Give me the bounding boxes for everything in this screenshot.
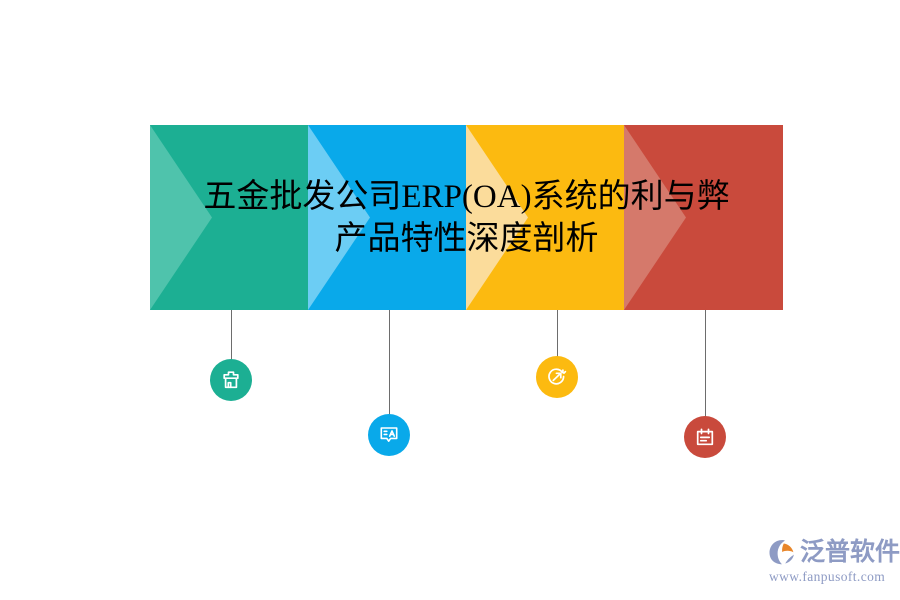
brand-url: www.fanpusoft.com — [768, 569, 894, 585]
segment-yellow-shape — [466, 125, 624, 310]
node-growth[interactable] — [536, 356, 578, 398]
banner-segment-teal — [150, 125, 308, 310]
connector-line-2 — [389, 310, 390, 423]
banner-segment-blue — [308, 125, 466, 310]
banner-segment-red — [624, 125, 783, 310]
banner — [150, 125, 783, 310]
segment-red-shape — [624, 125, 783, 310]
store-icon — [219, 368, 243, 392]
infographic-canvas: 五金批发公司ERP(OA)系统的利与弊 产品特性深度剖析 — [0, 0, 900, 600]
segment-blue-shape — [308, 125, 466, 310]
growth-icon — [545, 365, 569, 389]
banner-segment-yellow — [466, 125, 624, 310]
node-clipboard[interactable] — [684, 416, 726, 458]
connector-line-4 — [705, 310, 706, 425]
fanpu-logo-mark-icon — [768, 537, 798, 567]
translate-icon — [377, 423, 401, 447]
brand-logo: 泛普软件 www.fanpusoft.com — [768, 536, 894, 586]
segment-teal-shape — [150, 125, 308, 310]
node-store[interactable] — [210, 359, 252, 401]
node-translate[interactable] — [368, 414, 410, 456]
clipboard-icon — [693, 425, 717, 449]
brand-name: 泛普软件 — [800, 537, 900, 567]
